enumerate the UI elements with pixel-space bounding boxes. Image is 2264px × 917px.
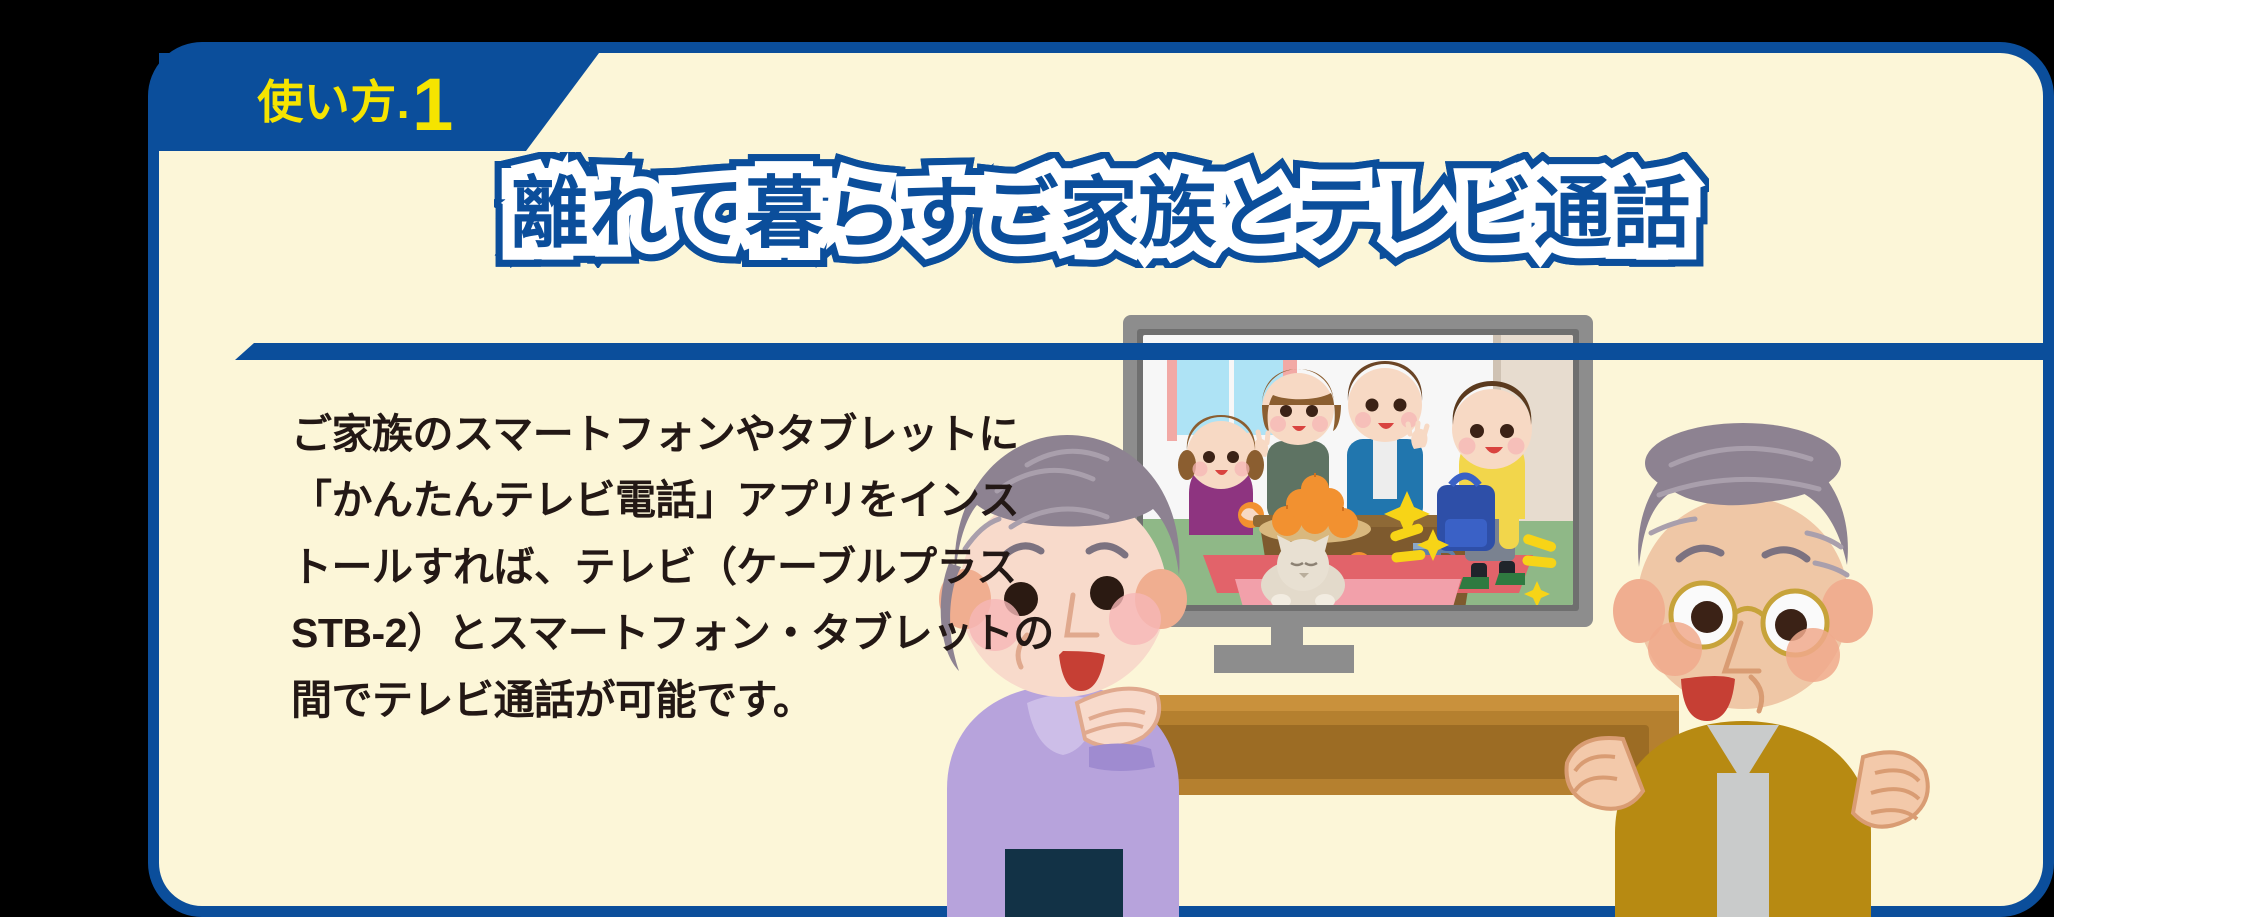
tv-screen-scene (1143, 335, 1573, 611)
step-flag-label: 使い方.1 (159, 53, 526, 151)
tv-cabinet-top (1119, 695, 1679, 711)
boy-shoe-left (1459, 577, 1489, 589)
window-curtain-left (1167, 351, 1177, 441)
elderly-man (1567, 423, 1928, 917)
step-card: 使い方.1 離れて暮らすご家族とテレビ通話 離れて暮らすご家族とテレビ通話 ご家… (148, 42, 2054, 917)
step-flag-number: 1 (412, 74, 454, 137)
body-line: トールすれば、テレビ（ケーブルプラス (291, 534, 931, 600)
right-margin (2054, 0, 2264, 917)
body-line: ご家族のスマートフォンやタブレットに (291, 401, 931, 467)
poster-canvas: 使い方.1 離れて暮らすご家族とテレビ通話 離れて暮らすご家族とテレビ通話 ご家… (0, 0, 2264, 917)
man-mouth (1681, 676, 1735, 721)
boy-shoe-right (1495, 573, 1525, 585)
tv-person-girl (1178, 415, 1264, 535)
body-line: 間でテレビ通話が可能です。 (291, 667, 931, 733)
step-flag: 使い方.1 (159, 53, 599, 151)
tv-person-father (1347, 361, 1427, 523)
left-margin (0, 0, 148, 917)
page-title: 離れて暮らすご家族とテレビ通話 離れて暮らすご家族とテレビ通話 (510, 174, 1691, 252)
man-eye-left (1691, 601, 1723, 633)
girl-pigtail-right (1246, 450, 1264, 480)
page-title-text: 離れて暮らすご家族とテレビ通話 (510, 169, 1691, 257)
girl-pigtail-left (1178, 450, 1196, 480)
body-line: STB-2）とスマートフォン・タブレットの (291, 600, 931, 666)
man-shirt (1717, 773, 1769, 917)
woman-cuff (1089, 743, 1155, 771)
title-area: 離れて暮らすご家族とテレビ通話 離れて暮らすご家族とテレビ通話 (159, 158, 2043, 268)
man-hand-right (1853, 752, 1928, 826)
title-divider (235, 343, 2047, 360)
step-flag-text: 使い方. (257, 79, 410, 125)
body-line: 「かんたんテレビ電話」アプリをインス (291, 467, 931, 533)
woman-skirt (1005, 849, 1123, 917)
body-paragraph: ご家族のスマートフォンやタブレットに 「かんたんテレビ電話」アプリをインス トー… (291, 401, 931, 733)
